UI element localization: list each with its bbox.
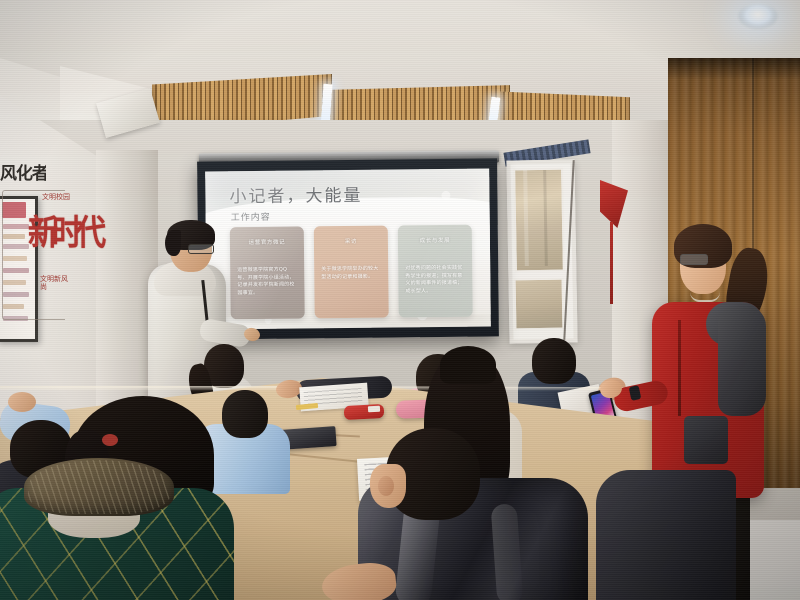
slide-card-body: 关于微思学院举办的较大型活动的记录和摄影。 bbox=[321, 266, 381, 282]
slide-card-body: 运营微思学院官方QQ号、开展学院小组活动，记录并发布学院新闻的校园事宜。 bbox=[237, 267, 297, 298]
classroom-photo: 风化者 文明校园 新时代 文明新风尚 小记者，大能量 工作内容 运营官方微记 运… bbox=[0, 0, 800, 600]
glasses-icon bbox=[188, 244, 214, 254]
teacher-jacket-zip bbox=[678, 320, 681, 416]
teacher-jacket-sleeve bbox=[718, 306, 766, 416]
calligraphy-bottom-text: 文明新风尚 bbox=[40, 276, 72, 304]
projector-screen: 小记者，大能量 工作内容 运营官方微记 运营微思学院官方QQ号、开展学院小组活动… bbox=[205, 169, 491, 330]
window-pane-bottom bbox=[514, 278, 565, 331]
slide-card: 成长与发展 对优秀问题的社会实践优秀学生的报道；撰写有意义的新闻事件的报道稿；成… bbox=[398, 225, 473, 318]
wood-panel-shadow bbox=[668, 58, 800, 80]
ceiling-downlight-icon bbox=[737, 2, 779, 30]
hair-scrunchie bbox=[102, 434, 118, 446]
poster-heading: 风化者 bbox=[0, 163, 46, 185]
slide-title: 小记者，大能量 bbox=[229, 183, 459, 211]
glasses-icon bbox=[680, 254, 708, 265]
student-foreground-right bbox=[596, 470, 736, 600]
pencil-case-tag bbox=[368, 406, 380, 413]
hand bbox=[8, 392, 36, 412]
presenter-hair-side bbox=[165, 230, 181, 256]
teacher-jacket-pocket bbox=[684, 416, 728, 464]
student-head bbox=[222, 390, 268, 438]
student-ear bbox=[378, 476, 394, 496]
slide-card: 采访 关于微思学院举办的较大型活动的记录和摄影。 bbox=[314, 226, 389, 319]
fur-hood-texture bbox=[28, 460, 170, 514]
red-flag-pole bbox=[610, 222, 613, 304]
slide-card-body: 对优秀问题的社会实践优秀学生的报道；撰写有意义的新闻事件的报道稿；成长型人。 bbox=[405, 265, 465, 296]
slide-card-heading: 采访 bbox=[314, 237, 388, 246]
necklace bbox=[690, 292, 720, 302]
slide-subtitle: 工作内容 bbox=[231, 211, 371, 225]
student-green-jacket bbox=[0, 452, 244, 600]
slide-card-heading: 成长与发展 bbox=[398, 236, 472, 245]
student-black-puffer bbox=[330, 420, 590, 600]
student-head bbox=[532, 338, 576, 384]
student-fringe bbox=[440, 346, 496, 384]
calligraphy-main-text: 新时代 bbox=[28, 218, 72, 282]
window-pane-top bbox=[513, 168, 565, 273]
wall-calligraphy: 文明校园 新时代 文明新风尚 bbox=[28, 196, 72, 304]
student-hands bbox=[320, 560, 398, 600]
